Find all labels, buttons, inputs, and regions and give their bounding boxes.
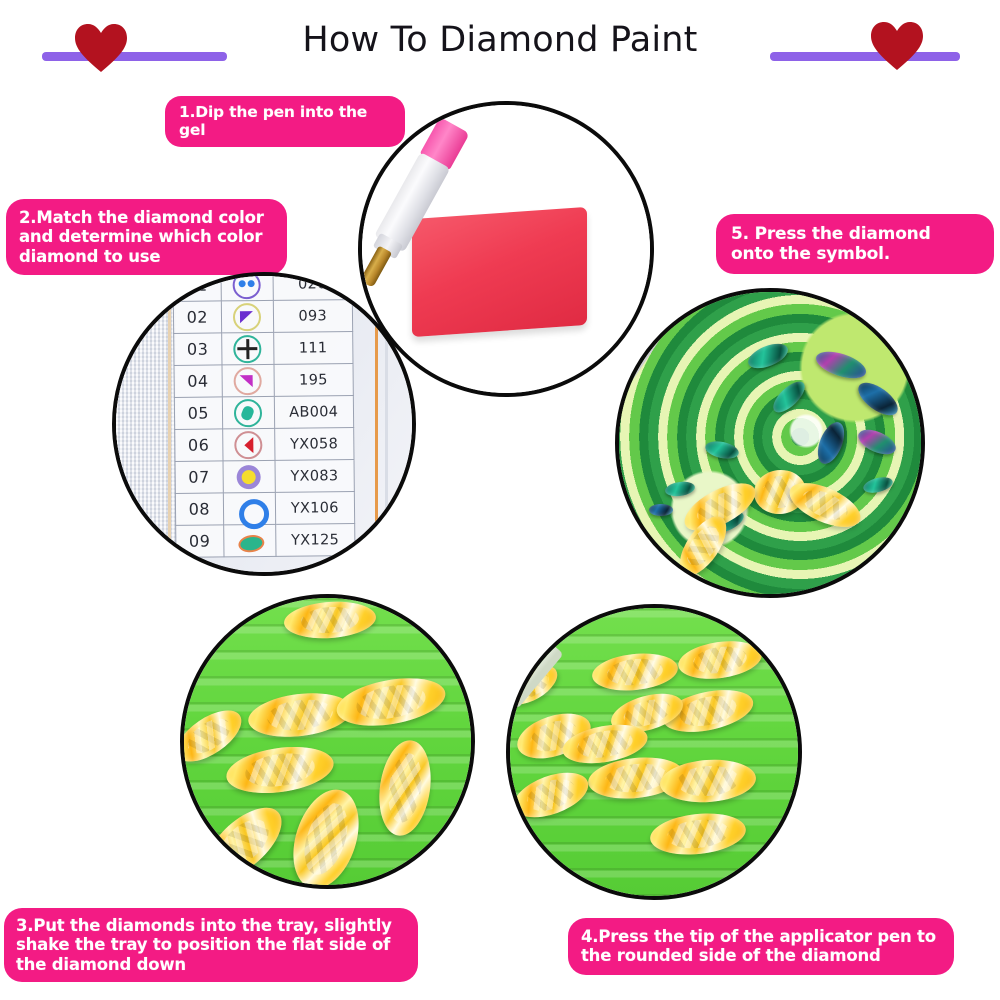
row-symbol xyxy=(223,524,275,557)
row-code: 111 xyxy=(273,332,353,365)
table-row: 01 020 xyxy=(173,272,352,301)
row-code: 020 xyxy=(272,272,352,300)
row-number: 04 xyxy=(174,365,222,397)
table-row: 03 111 xyxy=(174,332,353,366)
row-number: 09 xyxy=(176,525,224,557)
table-row: 08 YX106 xyxy=(175,492,354,526)
row-symbol xyxy=(223,492,275,525)
paper-edge-stripe xyxy=(168,276,171,572)
purple-triangle-icon xyxy=(233,303,261,331)
table-row: 04 195 xyxy=(174,364,353,398)
step-3-label: 3.Put the diamonds into the tray, slight… xyxy=(4,908,418,982)
step-3-photo xyxy=(180,594,475,889)
row-number: 06 xyxy=(175,429,223,461)
page-title: How To Diamond Paint xyxy=(0,20,1000,60)
teal-leaf-icon xyxy=(237,529,261,553)
blue-double-dot-icon xyxy=(233,272,261,299)
teal-plus-icon xyxy=(233,335,261,363)
gel-pad xyxy=(412,207,587,337)
row-number: 03 xyxy=(174,333,222,365)
row-symbol xyxy=(221,300,273,333)
magenta-triangle-icon xyxy=(234,367,262,395)
blue-ring-icon xyxy=(237,497,261,521)
teal-slash-icon xyxy=(234,399,262,427)
row-symbol xyxy=(222,364,274,397)
row-number: 07 xyxy=(175,461,223,493)
row-code: YX106 xyxy=(275,492,355,525)
row-number: 02 xyxy=(173,301,221,333)
step-4-label: 4.Press the tip of the applicator pen to… xyxy=(568,918,954,975)
row-number: 01 xyxy=(173,272,221,301)
row-symbol xyxy=(221,272,273,301)
paper-edge-stripe xyxy=(385,276,388,572)
step-4-photo xyxy=(506,604,802,900)
step-5-photo xyxy=(615,288,925,598)
table-row: 02 093 xyxy=(173,300,352,334)
red-arrow-icon xyxy=(234,431,262,459)
row-number: 05 xyxy=(174,397,222,429)
row-number: 08 xyxy=(175,493,223,525)
row-code: AB004 xyxy=(274,396,354,429)
row-code: YX125 xyxy=(275,524,355,557)
row-code: YX083 xyxy=(275,460,355,493)
table-row: 07 YX083 xyxy=(175,460,354,494)
row-symbol xyxy=(222,428,274,461)
row-symbol xyxy=(221,332,273,365)
step-5-label: 5. Press the diamond onto the symbol. xyxy=(716,214,994,274)
canvas-gem xyxy=(649,504,673,516)
row-symbol xyxy=(222,396,274,429)
yellow-dot-purple-ring-icon xyxy=(237,465,261,489)
row-code: YX058 xyxy=(274,428,354,461)
symbol-chart-table: 01 020 02 093 xyxy=(172,272,355,558)
table-row: 05 AB004 xyxy=(174,396,353,430)
table-row: 09 YX125 xyxy=(176,524,355,558)
step-2-label: 2.Match the diamond color and determine … xyxy=(6,199,287,275)
table-row: 06 YX058 xyxy=(175,428,354,462)
paper-edge-stripe xyxy=(375,276,378,572)
step-2-photo: 01 020 02 093 xyxy=(112,272,416,576)
row-code: 093 xyxy=(273,300,353,333)
row-code: 195 xyxy=(273,364,353,397)
row-symbol xyxy=(223,460,275,493)
infographic-canvas: How To Diamond Paint 1.Dip the pen into … xyxy=(0,0,1000,1000)
